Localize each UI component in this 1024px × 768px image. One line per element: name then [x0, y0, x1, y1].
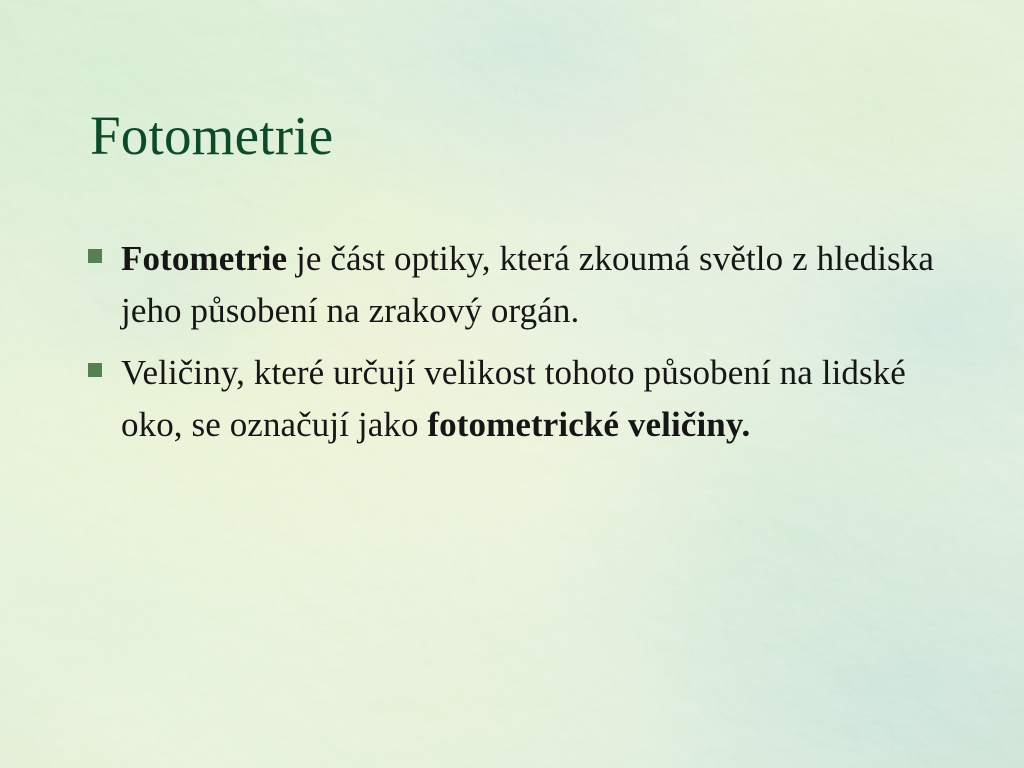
- bullet-lead-bold: Fotometrie: [121, 239, 287, 278]
- bullet-trail-bold: fotometrické veličiny.: [427, 405, 750, 444]
- list-item: Fotometrie je část optiky, která zkoumá …: [88, 233, 938, 337]
- presentation-slide: Fotometrie Fotometrie je část optiky, kt…: [0, 0, 1024, 768]
- square-bullet-icon: [88, 249, 102, 263]
- bullet-text: Veličiny, které určují velikost tohoto p…: [121, 347, 938, 451]
- list-item: Veličiny, které určují velikost tohoto p…: [88, 347, 938, 451]
- slide-content: Fotometrie Fotometrie je část optiky, kt…: [0, 0, 1024, 768]
- square-bullet-icon: [88, 363, 102, 377]
- slide-title: Fotometrie: [90, 105, 333, 167]
- bullet-text: Fotometrie je část optiky, která zkoumá …: [121, 233, 938, 337]
- slide-body: Fotometrie je část optiky, která zkoumá …: [88, 233, 938, 461]
